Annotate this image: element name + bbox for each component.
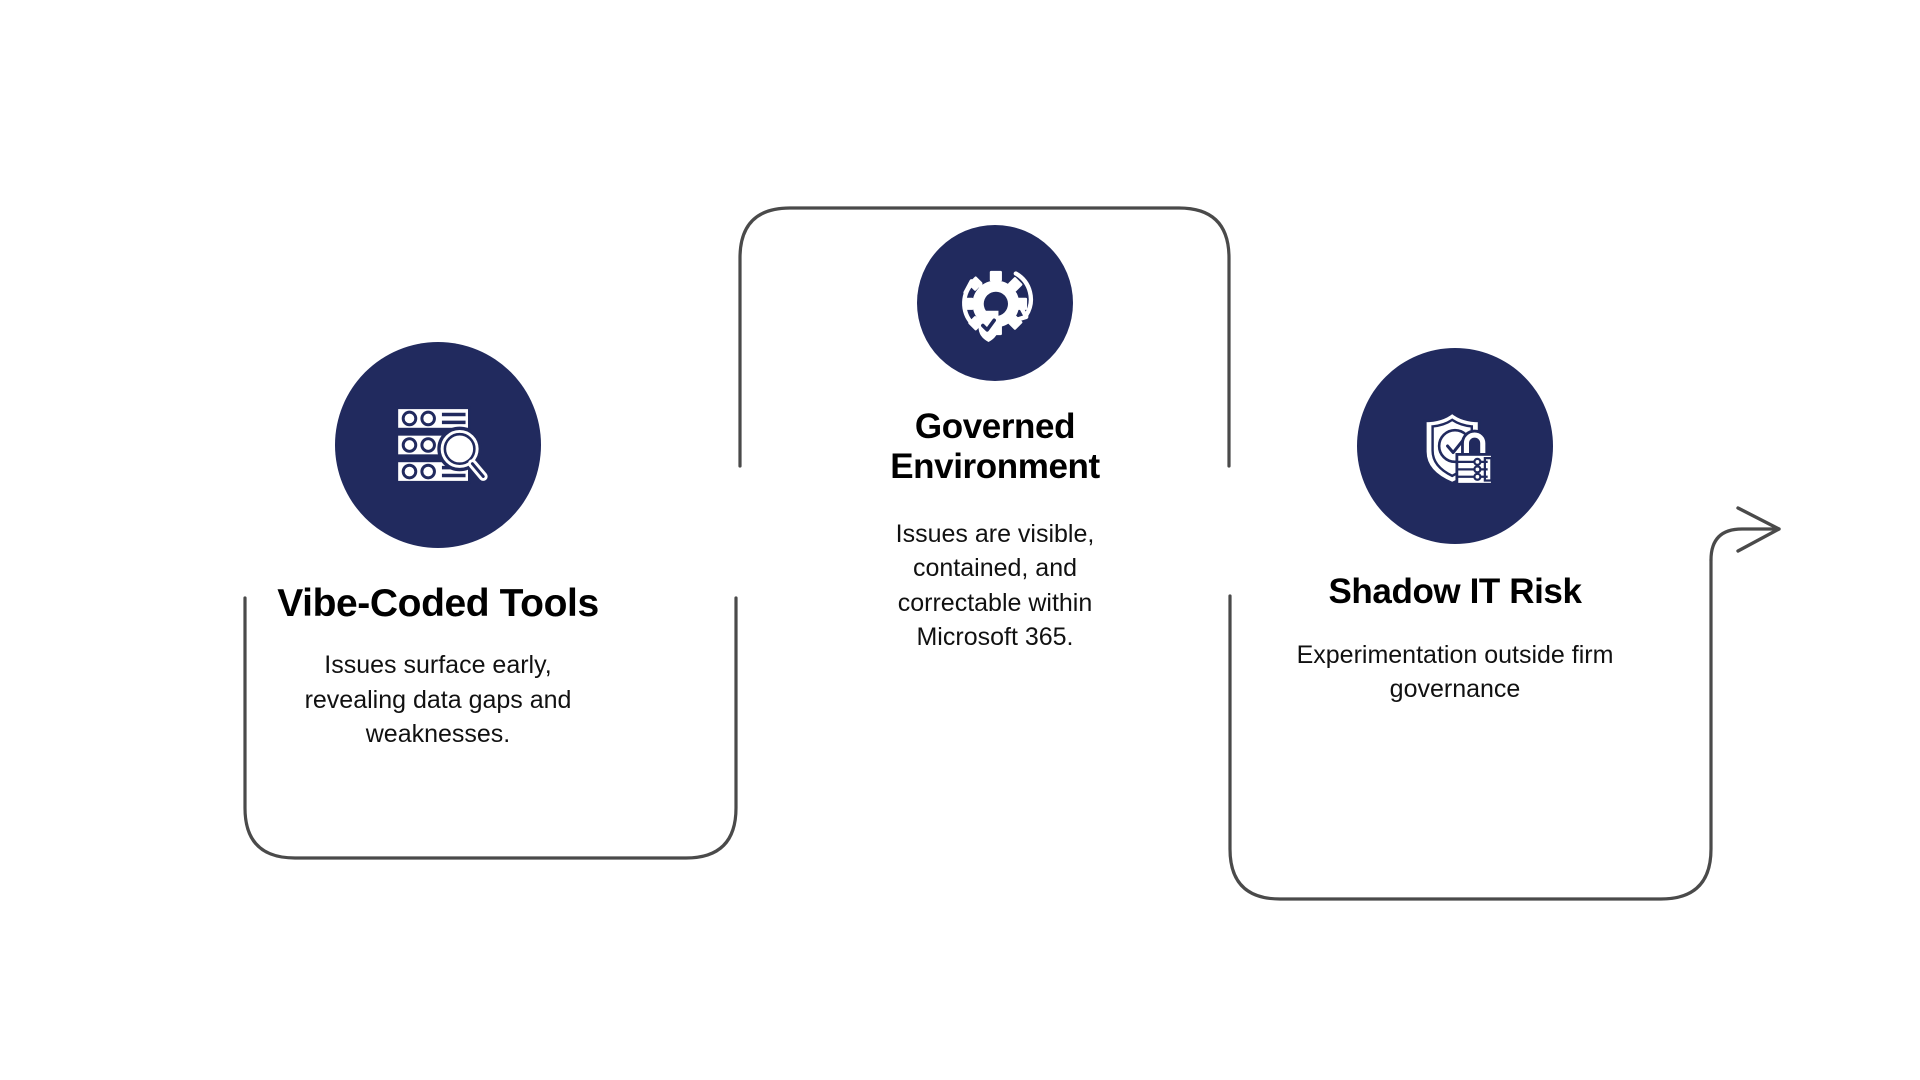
- diagram-canvas: Vibe-Coded Tools Issues surface early, r…: [0, 0, 1920, 1080]
- card-description: Experimentation outside firm governance: [1290, 638, 1620, 707]
- card-governed-environment[interactable]: Governed Environment Issues are visible,…: [845, 225, 1145, 655]
- server-rack-search-icon: [335, 342, 541, 548]
- card-title: Shadow IT Risk: [1328, 572, 1581, 612]
- card-title: Vibe-Coded Tools: [277, 582, 599, 626]
- card-shadow-it-risk[interactable]: Shadow IT Risk Experimentation outside f…: [1290, 348, 1620, 707]
- shield-check-padlock-icon: [1357, 348, 1553, 544]
- arrow-shaft: [1711, 529, 1779, 560]
- curved-arrow-right-icon: [1738, 508, 1779, 551]
- card-description: Issues are visible, contained, and corre…: [865, 517, 1125, 655]
- card-description: Issues surface early, revealing data gap…: [273, 648, 603, 752]
- card-vibe-coded-tools[interactable]: Vibe-Coded Tools Issues surface early, r…: [268, 342, 608, 752]
- gear-shield-check-icon: [917, 225, 1073, 381]
- card-title: Governed Environment: [845, 407, 1145, 487]
